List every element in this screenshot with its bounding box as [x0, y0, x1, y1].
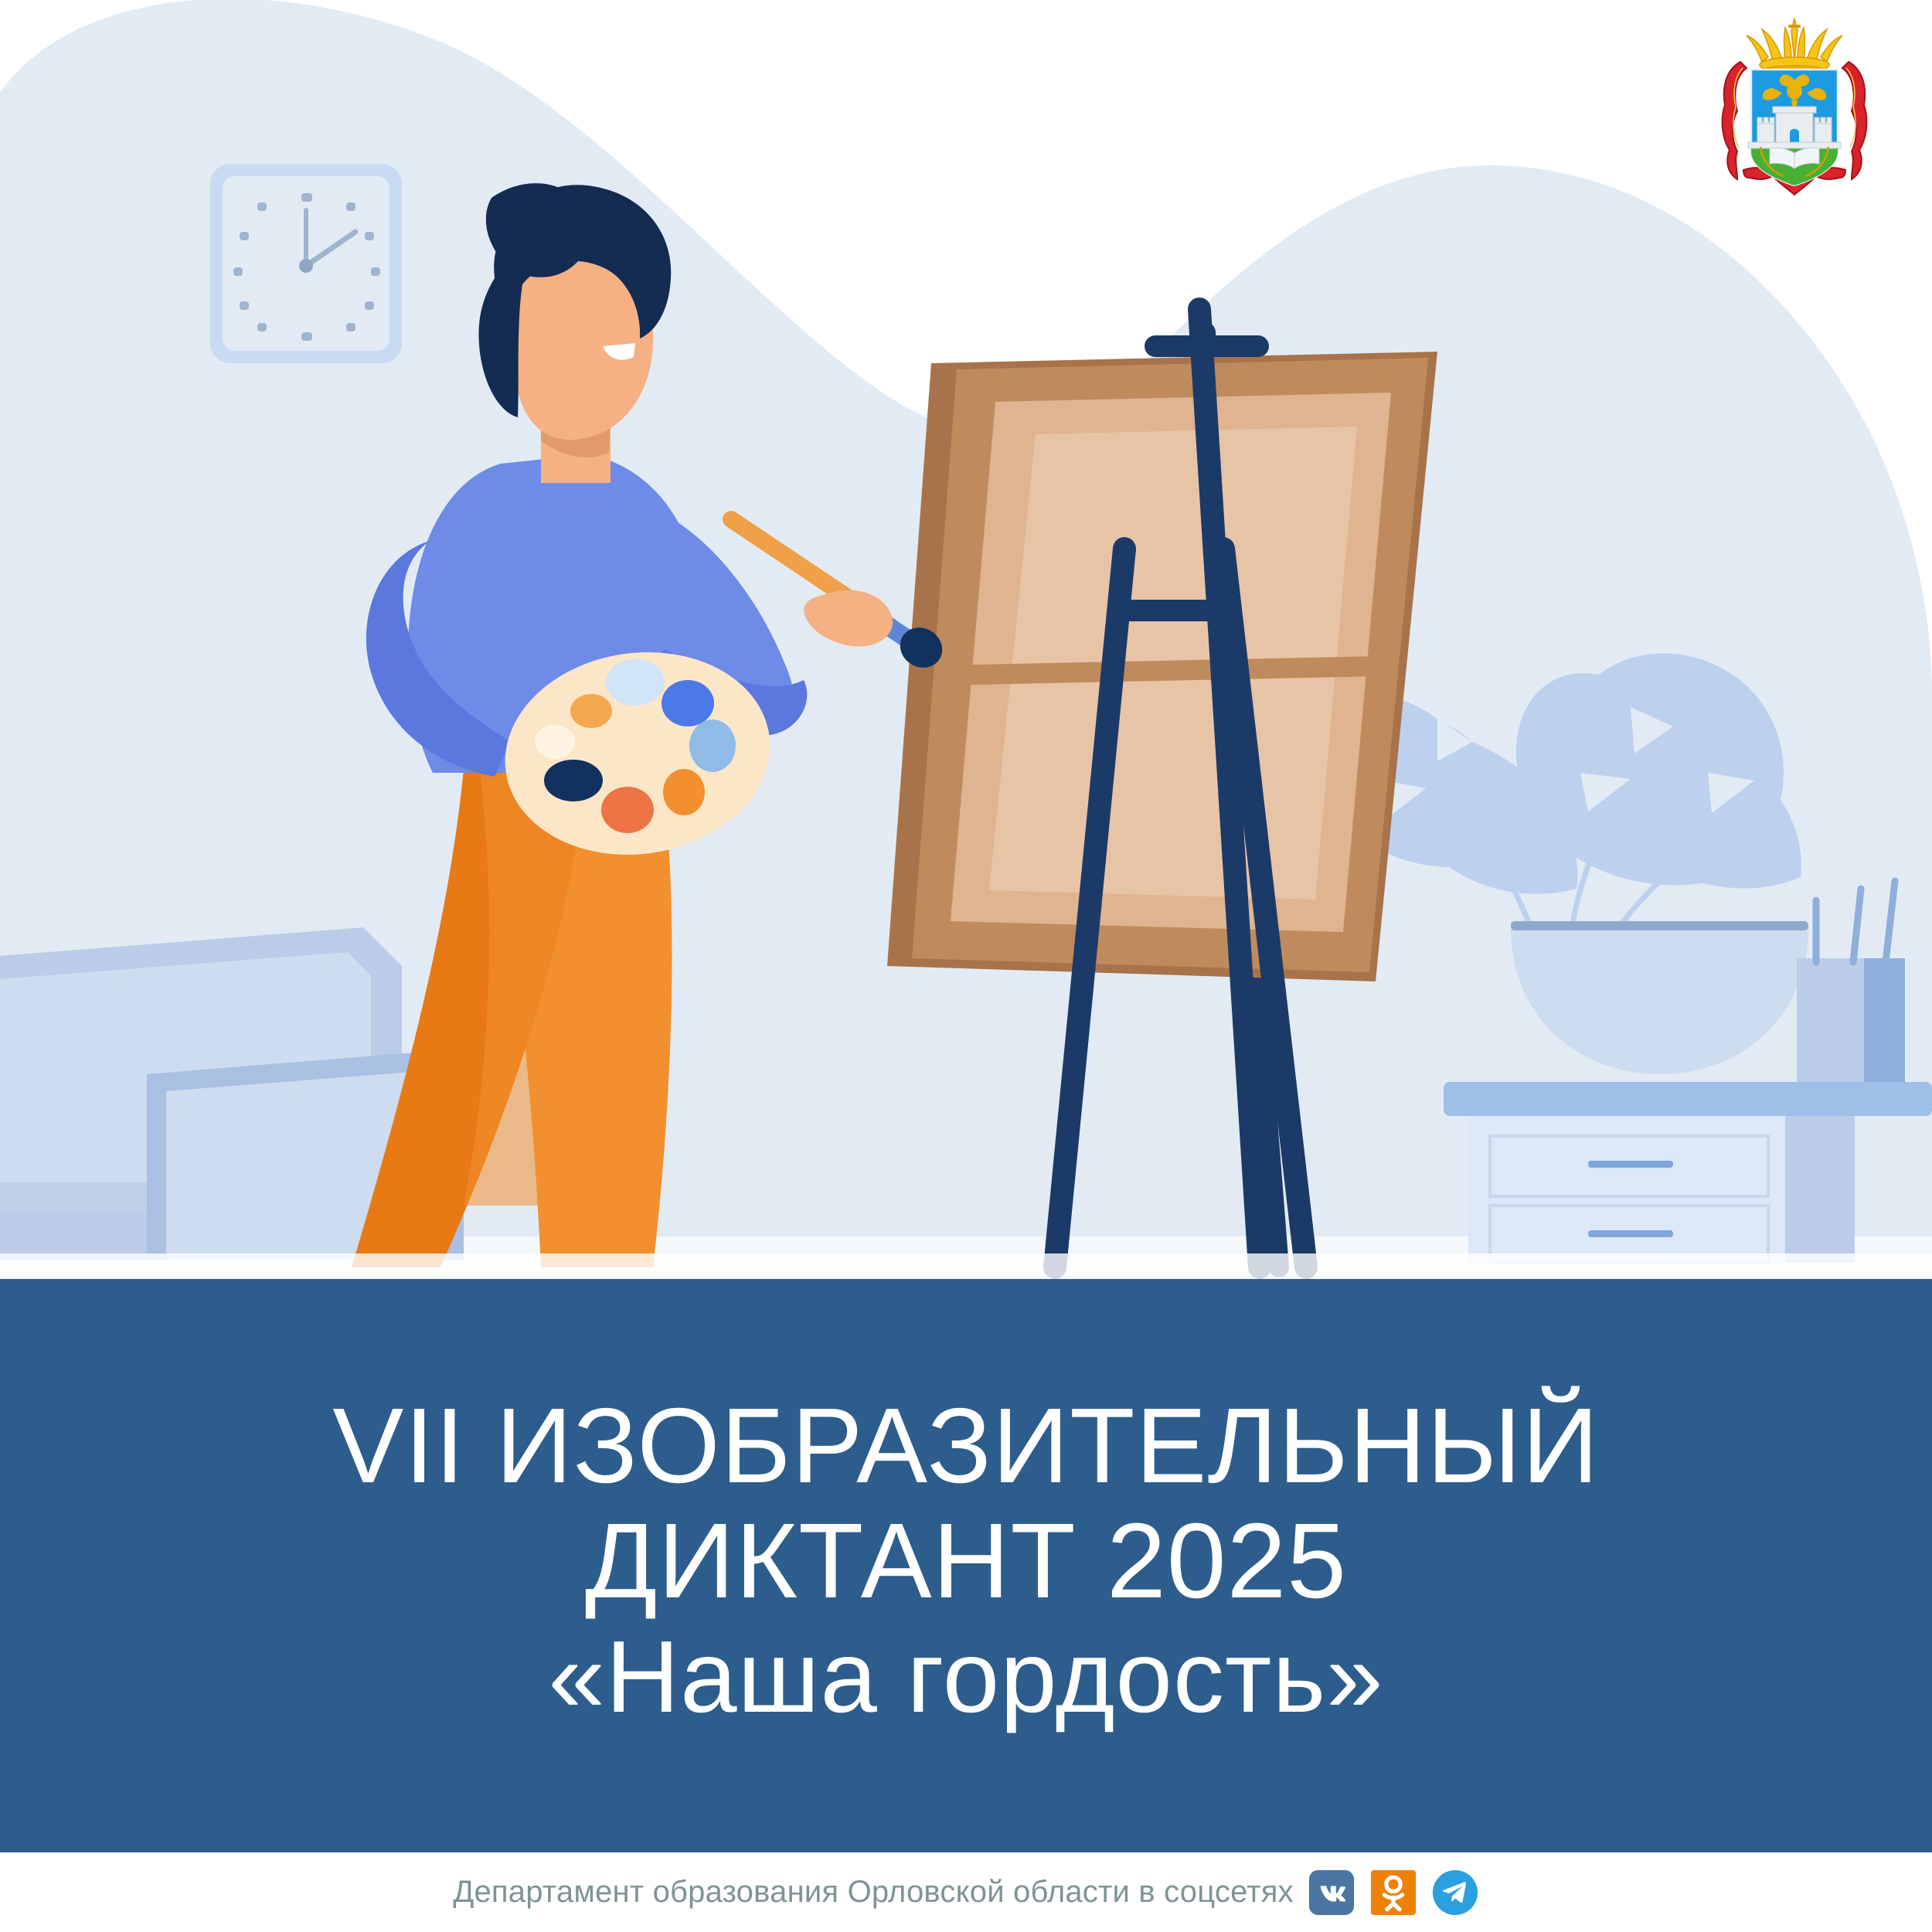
canvas-on-easel — [887, 352, 1437, 981]
oryol-oblast-coat-of-arms — [1717, 14, 1872, 215]
title-line-1: VII ИЗОБРАЗИТЕЛЬНЫЙ — [332, 1389, 1599, 1504]
cabinet-side — [1785, 1116, 1855, 1263]
title-banner: VII ИЗОБРАЗИТЕЛЬНЫЙ ДИКТАНТ 2025 «Наша г… — [0, 1279, 1932, 1852]
easel-knob-right — [1212, 539, 1235, 562]
telegram-icon[interactable] — [1431, 1869, 1479, 1917]
palette-dab-navy — [544, 760, 603, 801]
fade-strip — [0, 1253, 1932, 1281]
title-line-3: «Наша гордость» — [548, 1622, 1383, 1733]
coat-of-arms-svg — [1717, 14, 1872, 215]
pot-rim — [1511, 921, 1808, 930]
palette-dab-red-orange — [601, 787, 654, 833]
palette-dab-sky-blue — [689, 719, 736, 772]
palette-thumb-hole — [535, 725, 575, 759]
studio-illustration — [0, 0, 1932, 1283]
palette-dab-orange — [663, 769, 705, 815]
crown — [1747, 19, 1842, 75]
footer-bar: Департамент образования Орловской област… — [0, 1852, 1932, 1932]
palette-dab-light-orange — [570, 694, 612, 728]
vk-icon[interactable] — [1308, 1869, 1355, 1917]
cabinet-top — [1444, 1082, 1932, 1116]
title-line-2: ДИКТАНТ 2025 — [585, 1504, 1347, 1619]
palette-dab-pale-blue — [606, 659, 665, 706]
clock-center — [299, 259, 313, 273]
poster-root: VII ИЗОБРАЗИТЕЛЬНЫЙ ДИКТАНТ 2025 «Наша г… — [0, 0, 1932, 1932]
drawer-handle-2 — [1588, 1230, 1673, 1237]
drawer-handle-1 — [1588, 1161, 1673, 1168]
footer-text: Департамент образования Орловской област… — [453, 1875, 1294, 1910]
palette-dab-royal-blue — [662, 680, 714, 726]
wall-clock — [210, 164, 402, 363]
shield — [1748, 70, 1841, 185]
scene-svg — [0, 0, 1932, 1283]
easel-knob-left — [1113, 539, 1136, 562]
ok-icon[interactable] — [1369, 1869, 1417, 1917]
